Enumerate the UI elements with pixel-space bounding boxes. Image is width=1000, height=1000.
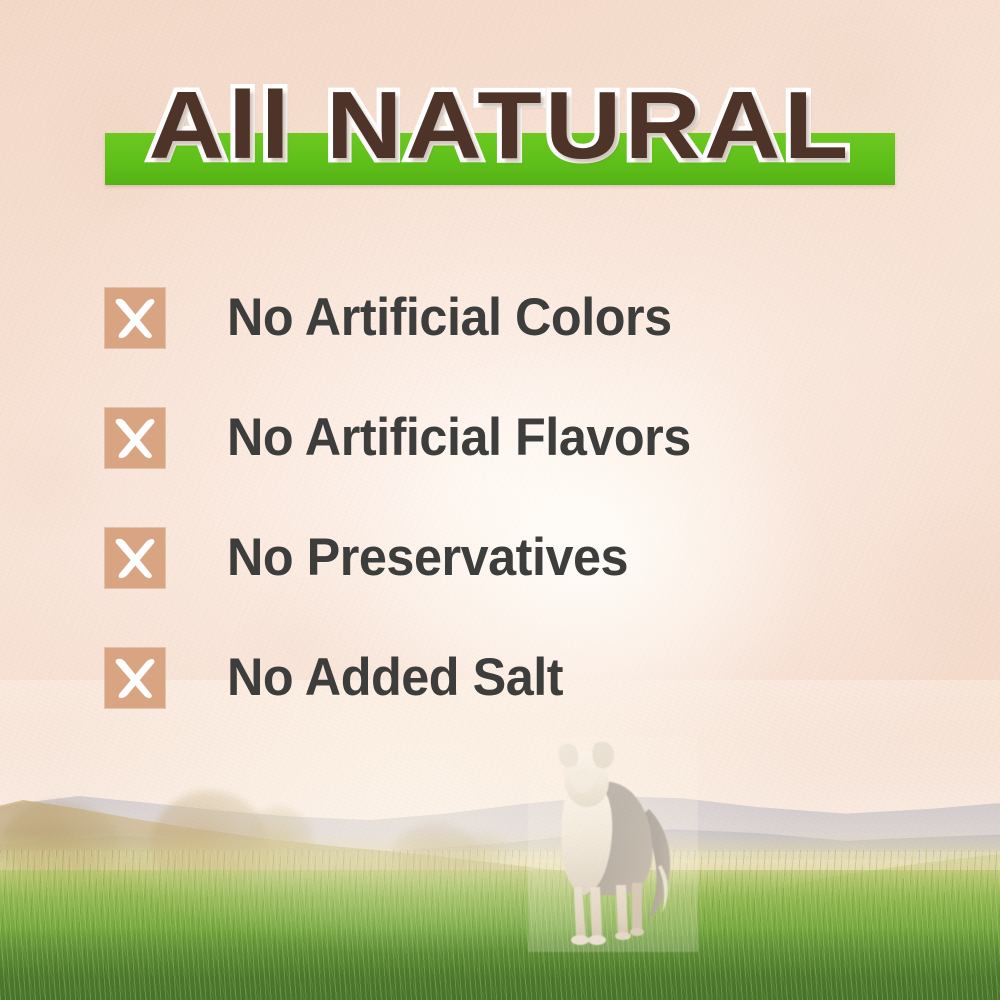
claim-label: No Preservatives	[227, 530, 628, 586]
claim-label: No Added Salt	[227, 650, 563, 706]
dog-photo-subject	[528, 737, 698, 952]
product-feature-poster: All NATURAL No Artificial Colors No Arti…	[0, 0, 1000, 1000]
list-item: No Artificial Flavors	[105, 378, 925, 498]
page-title: All NATURAL	[0, 78, 1000, 174]
grass-blade-texture	[0, 850, 1000, 1000]
claims-list: No Artificial Colors No Artificial Flavo…	[105, 258, 925, 738]
list-item: No Artificial Colors	[105, 258, 925, 378]
x-mark-icon	[105, 528, 165, 588]
x-mark-icon	[105, 408, 165, 468]
list-item: No Preservatives	[105, 498, 925, 618]
claim-label: No Artificial Colors	[227, 290, 672, 346]
x-mark-icon	[105, 288, 165, 348]
claim-label: No Artificial Flavors	[227, 410, 691, 466]
x-mark-icon	[105, 648, 165, 708]
list-item: No Added Salt	[105, 618, 925, 738]
